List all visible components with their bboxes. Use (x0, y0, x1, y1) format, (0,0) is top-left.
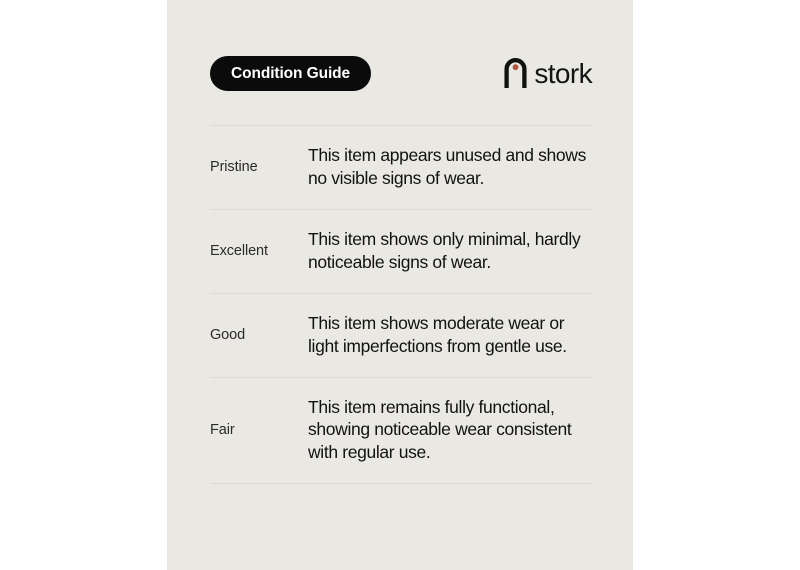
table-divider-bottom (210, 483, 592, 484)
table-row: Fair This item remains fully functional,… (210, 378, 592, 484)
condition-label: Fair (210, 422, 308, 438)
screenshot-canvas: Condition Guide stork Pristine This item… (0, 0, 800, 570)
condition-description: This item shows moderate wear or light i… (308, 312, 592, 358)
brand-logo: stork (504, 57, 592, 88)
condition-table: Pristine This item appears unused and sh… (210, 125, 592, 484)
condition-description: This item appears unused and shows no vi… (308, 144, 592, 190)
condition-description: This item remains fully functional, show… (308, 396, 592, 465)
condition-description: This item shows only minimal, hardly not… (308, 228, 592, 274)
table-row: Pristine This item appears unused and sh… (210, 126, 592, 209)
condition-guide-badge-label: Condition Guide (231, 65, 350, 83)
condition-label: Excellent (210, 243, 308, 259)
card-header: Condition Guide stork (210, 56, 592, 92)
condition-guide-badge: Condition Guide (210, 56, 371, 91)
table-row: Excellent This item shows only minimal, … (210, 210, 592, 293)
condition-label: Pristine (210, 159, 308, 175)
condition-label: Good (210, 327, 308, 343)
brand-wordmark: stork (534, 60, 592, 88)
condition-guide-card: Condition Guide stork Pristine This item… (167, 0, 633, 570)
table-row: Good This item shows moderate wear or li… (210, 294, 592, 377)
stork-arch-logo-icon (504, 57, 527, 88)
